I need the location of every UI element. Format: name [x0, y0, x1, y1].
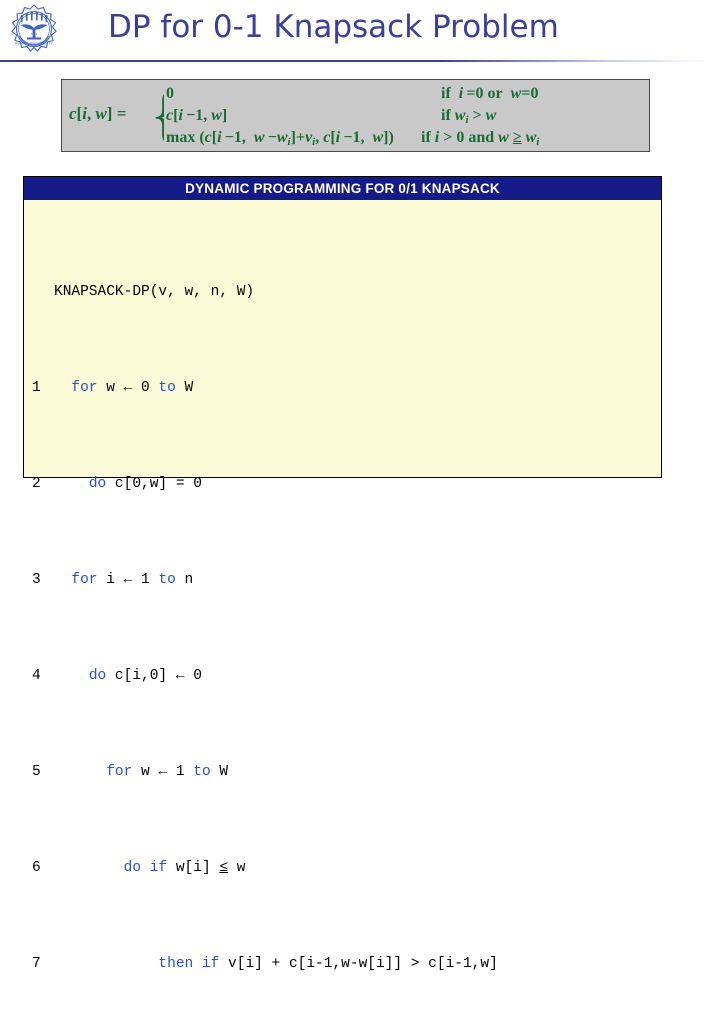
- svg-text:HUNAN UNIVERSITY: HUNAN UNIVERSITY: [15, 42, 54, 46]
- code-line-text: KNAPSACK-DP(v, w, n, W): [54, 284, 254, 300]
- formula-case-base-expression: 0: [166, 85, 174, 103]
- slide-header: 1911 HUNAN UNIVERSITY DP for 0-1 Knapsac…: [0, 0, 711, 62]
- recurrence-formula-box: c[i, w] = { 0 if i =0 or w=0 c[i −1, w] …: [61, 79, 650, 152]
- code-line: 3 for i ← 1 to n: [24, 568, 661, 592]
- code-line-number: 3: [24, 568, 54, 592]
- algorithm-code: KNAPSACK-DP(v, w, n, W) 1 for w ← 0 to W…: [24, 200, 661, 1016]
- code-line-text: do if w[i] ≤ w: [54, 860, 245, 876]
- code-line-text: do c[i,0] ← 0: [54, 668, 202, 684]
- formula-case-skip-condition: if wi > w: [441, 107, 496, 126]
- formula-case-max-expression: max (c[i −1, w −wi]+vi, c[i −1, w]): [166, 129, 394, 148]
- code-line: KNAPSACK-DP(v, w, n, W): [24, 280, 661, 304]
- formula-case-skip: c[i −1, w] if wi > w: [166, 107, 644, 129]
- formula-left-hand-side: c[i, w] =: [69, 104, 126, 124]
- code-line-number: 2: [24, 472, 54, 496]
- formula-case-base: 0 if i =0 or w=0: [166, 85, 644, 107]
- code-line-text: for w ← 1 to W: [54, 764, 228, 780]
- formula-case-max: max (c[i −1, w −wi]+vi, c[i −1, w]) if i…: [166, 129, 644, 151]
- code-line: 6 do if w[i] ≤ w: [24, 856, 661, 880]
- formula-brace: {: [150, 85, 164, 149]
- university-seal-icon: 1911 HUNAN UNIVERSITY: [7, 3, 61, 57]
- code-line-text: for i ← 1 to n: [54, 572, 193, 588]
- code-line-number: 1: [24, 376, 54, 400]
- code-line: 2 do c[0,w] = 0: [24, 472, 661, 496]
- code-line: 7 then if v[i] + c[i-1,w-w[i]] > c[i-1,w…: [24, 952, 661, 976]
- title-divider: [0, 60, 711, 62]
- formula-case-max-condition: if i > 0 and w ≥ wi: [421, 129, 539, 148]
- code-line-text: for w ← 0 to W: [54, 380, 193, 396]
- code-line-number: 4: [24, 664, 54, 688]
- code-line-text: do c[0,w] = 0: [54, 476, 202, 492]
- formula-case-base-condition: if i =0 or w=0: [441, 85, 538, 103]
- code-line: 1 for w ← 0 to W: [24, 376, 661, 400]
- code-line-number: 5: [24, 760, 54, 784]
- formula-case-skip-expression: c[i −1, w]: [166, 107, 227, 125]
- algorithm-box: DYNAMIC PROGRAMMING FOR 0/1 KNAPSACK KNA…: [23, 176, 662, 478]
- svg-text:1911: 1911: [31, 32, 38, 36]
- code-line: 5 for w ← 1 to W: [24, 760, 661, 784]
- code-line-number: 6: [24, 856, 54, 880]
- code-line-number: 7: [24, 952, 54, 976]
- page-title: DP for 0-1 Knapsack Problem: [108, 9, 559, 45]
- code-line: 4 do c[i,0] ← 0: [24, 664, 661, 688]
- code-line-text: then if v[i] + c[i-1,w-w[i]] > c[i-1,w]: [54, 956, 498, 972]
- algorithm-caption: DYNAMIC PROGRAMMING FOR 0/1 KNAPSACK: [24, 177, 661, 200]
